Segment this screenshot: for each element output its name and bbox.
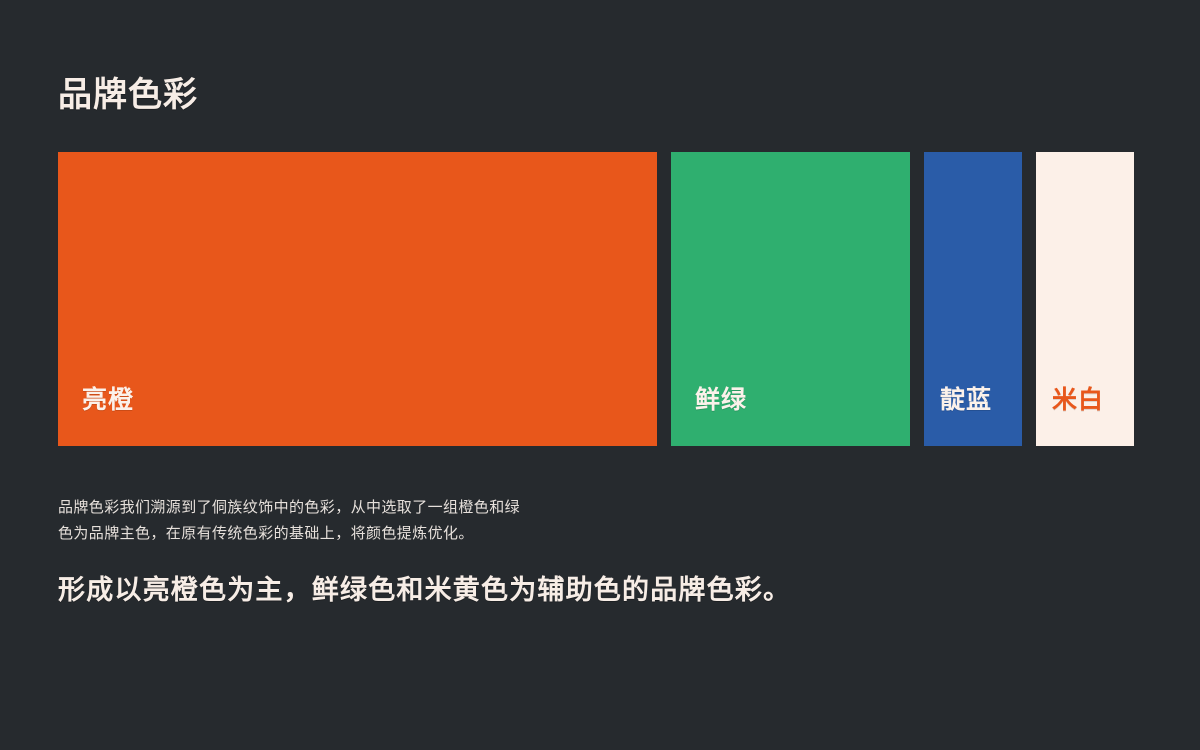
color-swatch-tertiary[interactable]: 靛蓝 [924, 152, 1022, 446]
body-copy-line-2: 色为品牌主色，在原有传统色彩的基础上，将颜色提炼优化。 [58, 521, 678, 547]
body-copy-line-1: 品牌色彩我们溯源到了侗族纹饰中的色彩，从中选取了一组橙色和绿 [58, 495, 678, 521]
brand-color-page: 品牌色彩 亮橙 鲜绿 靛蓝 米白 品牌色彩我们溯源到了侗族纹饰中的色彩，从中选取… [0, 0, 1200, 750]
body-copy: 品牌色彩我们溯源到了侗族纹饰中的色彩，从中选取了一组橙色和绿 色为品牌主色，在原… [58, 495, 678, 547]
color-swatch-primary[interactable]: 亮橙 [58, 152, 657, 446]
color-swatch-label-secondary: 鲜绿 [695, 385, 747, 415]
color-swatch-label-primary: 亮橙 [82, 385, 134, 415]
page-title: 品牌色彩 [58, 73, 198, 117]
color-swatch-label-tertiary: 靛蓝 [940, 385, 992, 415]
headline: 形成以亮橙色为主，鲜绿色和米黄色为辅助色的品牌色彩。 [58, 570, 791, 610]
color-swatch-strip: 亮橙 鲜绿 靛蓝 米白 [58, 152, 1140, 446]
color-swatch-secondary[interactable]: 鲜绿 [671, 152, 910, 446]
color-swatch-quaternary[interactable]: 米白 [1036, 152, 1134, 446]
color-swatch-label-quaternary: 米白 [1052, 385, 1104, 415]
